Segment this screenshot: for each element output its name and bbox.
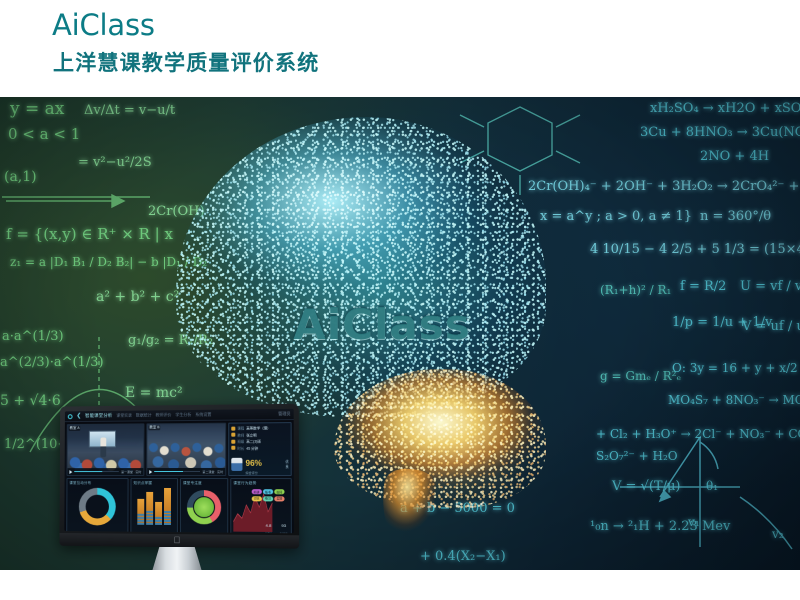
- equation-text: y = ax: [10, 99, 64, 120]
- dashboard-title: 智能课堂分析: [85, 413, 112, 419]
- kpi-value: 93: [281, 523, 286, 528]
- equation-text: 2NO + 4H: [700, 149, 769, 165]
- info-row: 班级 高二(3)班: [231, 438, 288, 443]
- ring-chart: [183, 487, 225, 527]
- kpi-label: 总评分: [264, 532, 272, 533]
- legend-item: 50% 专注度: [185, 528, 194, 533]
- nav-item[interactable]: 课堂实录: [116, 413, 132, 419]
- monitor-bezel: ❮ 智能课堂分析 课堂实录 数据统计 教师评价 学生分析 系统设置 管理员: [59, 404, 299, 549]
- progress-bar[interactable]: [154, 471, 200, 472]
- chart-panel-knowledge[interactable]: 知识点掌握 掌握度高: [130, 478, 178, 533]
- equation-text: 3Cu + 8HNO₃ → 3Cu(NO₃): [640, 125, 800, 141]
- video-tag: 教室 B: [148, 425, 160, 430]
- brain-cerebellum: [334, 369, 546, 509]
- behavior-chip[interactable]: 讨论: [252, 496, 262, 501]
- equation-text: (R₁+h)² / R₁: [600, 283, 671, 298]
- equation-text: ¹₀n → ²₁H + 2.23 Mev: [590, 519, 730, 535]
- equation-text: 0 < a < 1: [8, 125, 80, 144]
- equation-text: 2Cr(OH)₄⁻ + 2OH⁻ + 3H₂O₂ → 2CrO₄²⁻ + 8H: [528, 179, 800, 195]
- info-value: 高等数学（理）: [246, 425, 270, 430]
- video-controls[interactable]: 第一课堂 · 实时: [67, 468, 143, 475]
- equation-text: v₁: [688, 515, 700, 530]
- info-value: 高二(3)班: [246, 439, 261, 444]
- equation-text: MO₄S₇ + 8NO₃⁻ → MO: [668, 393, 800, 408]
- info-row: 课程 高等数学（理）: [231, 425, 288, 431]
- equation-text: θ₁: [706, 479, 718, 494]
- header: AiClass 上洋慧课教学质量评价系统: [0, 0, 800, 97]
- kpi-item: 4.8 总评分: [264, 514, 272, 534]
- progress-bar[interactable]: [74, 471, 119, 472]
- info-row: 教师 张立明: [231, 432, 288, 437]
- equation-text: S₂O₇²⁻ + H₂O: [596, 449, 678, 464]
- equation-text: f = {(x,y) ∈ R⁺ × R | x: [6, 225, 173, 244]
- score-label: 综合评分: [246, 471, 262, 475]
- kpi-list: 4.8 总评分 93 到课率: [264, 514, 287, 534]
- behavior-chip[interactable]: 实验: [274, 496, 284, 501]
- equation-text: = v²−u²/2S: [78, 155, 152, 171]
- equation-text: (a,1): [4, 169, 37, 187]
- info-label: 课程: [237, 426, 244, 431]
- lesson-info-panel: 课程 高等数学（理） 教师 张立明 班级 高二(3): [228, 422, 292, 476]
- monitor-device: ❮ 智能课堂分析 课堂实录 数据统计 教师评价 学生分析 系统设置 管理员: [57, 405, 297, 565]
- info-label: 班级: [237, 439, 244, 444]
- video-tag: 教室 A: [69, 426, 81, 431]
- dashboard-screen[interactable]: ❮ 智能课堂分析 课堂实录 数据统计 教师评价 学生分析 系统设置 管理员: [64, 409, 294, 533]
- bar-chart: [133, 487, 175, 527]
- teacher-icon: [231, 433, 235, 437]
- chart-legend: 50% 专注度 62% 参与度 59% 抬头率: [183, 528, 225, 533]
- page-title: AiClass: [52, 8, 155, 42]
- video-tile[interactable]: 教室 A 第一课堂 · 实时: [67, 423, 145, 476]
- nav-item[interactable]: 教师评价: [156, 412, 172, 418]
- video-caption: 第一课堂 · 实时: [121, 470, 141, 474]
- score-value: 96%: [246, 459, 262, 468]
- equation-text: a^(2/3)·a^(1/3): [0, 355, 104, 371]
- video-caption: 第二课堂 · 实时: [202, 469, 223, 473]
- poster-page: AiClass 上洋慧课教学质量评价系统 y = ax 0 < a < 1 (a…: [0, 0, 800, 600]
- info-row: 时长 45 分钟: [231, 445, 288, 450]
- play-icon[interactable]: [69, 470, 72, 474]
- equation-text: Δv/Δt = v−u/t: [84, 103, 175, 119]
- hero-image: y = ax 0 < a < 1 (a,1) Δv/Δt = v−u/t = v…: [0, 97, 800, 570]
- kpi-label: 到课率: [280, 532, 288, 533]
- equation-text: a² + b² + c²: [96, 289, 179, 307]
- info-value: 张立明: [246, 432, 256, 437]
- chart-panel-trend[interactable]: 课堂行为趋势 听讲 板书 提问 讨论: [230, 478, 292, 533]
- monitor-stand-neck: [151, 547, 203, 570]
- behavior-chip[interactable]: 听讲: [252, 489, 262, 494]
- equation-text: U = vf / v−f: [740, 279, 800, 295]
- equation-text: 1/p = 1/u + 1/v: [672, 315, 772, 331]
- legend-item: 59% 抬头率: [214, 528, 223, 533]
- legend-item: 掌握度高: [148, 528, 159, 533]
- side-metric: 良: [285, 464, 288, 469]
- behavior-chip-list: 听讲 板书 提问 讨论 练习 实验: [252, 489, 289, 501]
- dashboard-top-row: 教室 A 第一课堂 · 实时 教室 B: [65, 420, 294, 478]
- page-subtitle: 上洋慧课教学质量评价系统: [53, 47, 319, 77]
- video-tile[interactable]: 教室 B 第二课堂 · 实时: [146, 423, 226, 476]
- cerebellum-particle-texture: [334, 369, 546, 509]
- apple-logo-icon: : [174, 536, 181, 545]
- video-controls[interactable]: 第二课堂 · 实时: [147, 468, 225, 475]
- equation-text: a·a^(1/3): [2, 329, 64, 345]
- brain-stem: [378, 466, 437, 545]
- kpi-item: 93 到课率: [280, 514, 288, 534]
- legend-item: 62% 参与度: [200, 528, 209, 533]
- behavior-chip[interactable]: 板书: [263, 489, 273, 494]
- nav-item[interactable]: 学生分析: [175, 412, 191, 418]
- equation-text: v₂: [772, 527, 784, 542]
- settings-gear-icon[interactable]: [68, 414, 73, 419]
- behavior-chip[interactable]: 提问: [274, 489, 284, 494]
- panel-title: 课堂专注度: [183, 481, 225, 486]
- legend-item: 36% 小组协作: [106, 527, 117, 533]
- dashboard-chart-row: 课堂互动分布 58% 师生互动 36% 小组协作: [64, 478, 294, 533]
- info-label: 教师: [237, 432, 244, 437]
- info-label: 时长: [237, 445, 244, 450]
- equation-text: 4 10/15 − 4 2/5 + 5 1/3 = (15×4)+1 / 15: [590, 242, 800, 258]
- avatar: [231, 457, 242, 470]
- monitor-chin: : [59, 533, 299, 549]
- course-icon: [231, 426, 235, 430]
- brain-particle-texture: [176, 117, 546, 417]
- equation-text: O: 3y = 16 + y + x/2: [672, 361, 798, 376]
- equation-text: + Cl₂ + H₃O⁺ → 2Cl⁻ + NO₃⁻ + CO₂: [596, 427, 800, 442]
- brain-brand-label: AiClass: [252, 300, 512, 349]
- nav-item[interactable]: 数据统计: [136, 412, 152, 418]
- nav-user-label[interactable]: 管理员: [278, 411, 290, 417]
- equation-text: V = √(T/μ): [612, 479, 680, 495]
- equation-text: + 0.4(X₂−X₁): [420, 549, 506, 565]
- chart-panel-focus[interactable]: 课堂专注度 50% 专注度 62% 参与度: [180, 478, 228, 533]
- clock-icon: [231, 446, 235, 450]
- equation-text: V = uf / u−v: [742, 319, 800, 335]
- equation-text: 5 + √4·6: [0, 393, 61, 411]
- equation-text: g = Gmₑ / R²ₑ: [600, 369, 681, 384]
- chart-panel-interaction[interactable]: 课堂互动分布 58% 师生互动 36% 小组协作: [66, 478, 128, 533]
- equation-text: f = R/2: [680, 279, 726, 295]
- panel-title: 课堂互动分布: [69, 481, 125, 486]
- score-block: 96% 综合评分 优 良: [231, 453, 288, 475]
- class-icon: [231, 439, 235, 443]
- teacher-figure: [100, 438, 106, 458]
- donut-chart: [69, 487, 125, 527]
- chevron-left-icon[interactable]: ❮: [76, 413, 81, 419]
- side-metrics: 优 良: [285, 459, 288, 469]
- kpi-value: 4.8: [266, 523, 272, 528]
- behavior-chip[interactable]: 练习: [263, 496, 273, 501]
- brain-cortex: [176, 117, 546, 417]
- equation-text: n = 360°/θ: [700, 209, 771, 225]
- info-value: 45 分钟: [246, 445, 258, 450]
- panel-title: 课堂行为趋势: [233, 481, 288, 486]
- play-icon[interactable]: [149, 470, 152, 474]
- equation-text: xH₂SO₄ → xH2O + xSO: [650, 101, 800, 117]
- nav-item[interactable]: 系统设置: [195, 412, 211, 418]
- panel-title: 知识点掌握: [133, 481, 175, 486]
- chart-legend: 掌握度高: [133, 528, 175, 534]
